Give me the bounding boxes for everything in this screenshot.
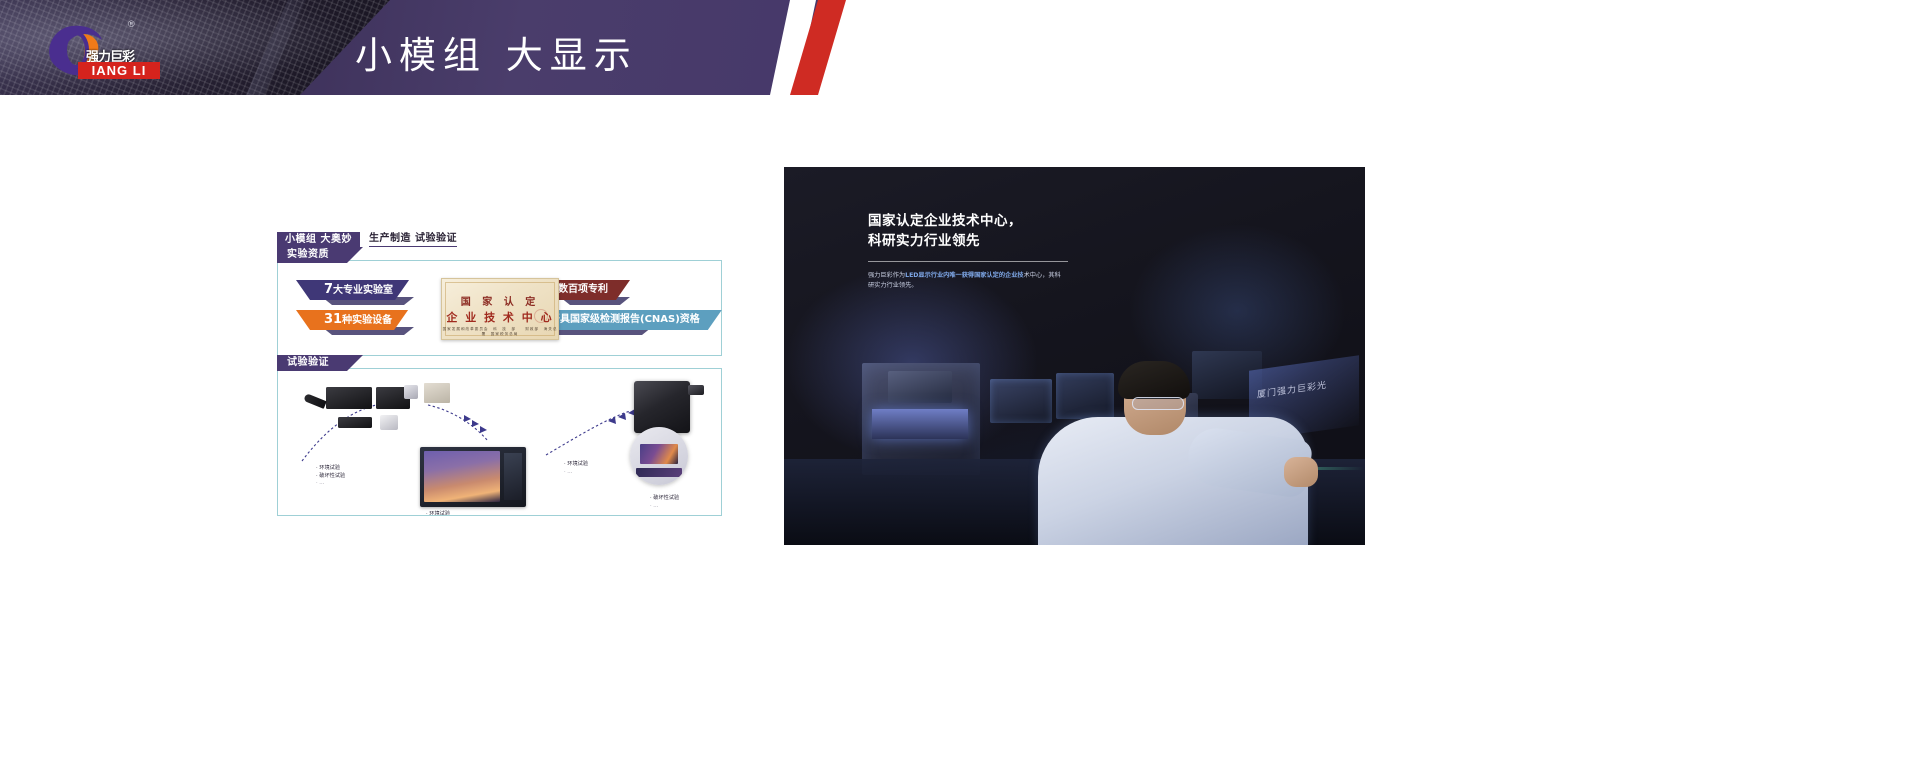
chip-equipment-text: 种实验设备 bbox=[342, 315, 392, 326]
display-module-side bbox=[504, 453, 522, 500]
flow-label-cabinet-line1: · 环境试验 bbox=[564, 461, 588, 469]
machine-head bbox=[888, 371, 952, 403]
flow-label-module-line1: · 环境试验 bbox=[426, 511, 455, 515]
chip-labs: 7大专业实验室 bbox=[296, 280, 409, 300]
flow-label-system-line2: · ... bbox=[650, 503, 679, 511]
photo-title-divider bbox=[868, 261, 1068, 262]
panel-validation: 试验验证 bbox=[277, 368, 722, 516]
technician-hair bbox=[1118, 361, 1190, 399]
resistor-part bbox=[404, 385, 418, 399]
photo-title-line2: 科研实力行业领先 bbox=[868, 231, 1168, 251]
photo-text-overlay: 国家认定企业技术中心， 科研实力行业领先 强力巨彩作为LED显示行业内唯一获得国… bbox=[868, 211, 1168, 291]
led-lamp-part bbox=[380, 415, 398, 430]
page-title: 小模组 大显示 bbox=[355, 25, 638, 79]
flow-label-components: · 环境试验 · 破坏性试验 · ... bbox=[316, 465, 345, 488]
registered-mark: ® bbox=[128, 20, 135, 29]
photo-title-line1: 国家认定企业技术中心， bbox=[868, 211, 1168, 231]
flow-label-components-line1: · 环境试验 bbox=[316, 465, 345, 473]
chip-patents-text: 数百项专利 bbox=[558, 284, 608, 295]
flow-label-module: · 环境试验 · 破坏性试验 · ... bbox=[426, 511, 455, 515]
panel-qualification-label: 实验资质 bbox=[277, 247, 363, 263]
flow-label-components-line3: · ... bbox=[316, 480, 345, 488]
flow-label-cabinet: · 环境试验 · ... bbox=[564, 461, 588, 476]
company-logo: ® 强力巨彩 IANG LI bbox=[42, 18, 160, 80]
display-module-image bbox=[424, 451, 500, 502]
terminal-block-part bbox=[424, 383, 450, 403]
photo-body-post: 术中心 bbox=[1024, 272, 1043, 279]
chip-equipment-number: 31 bbox=[324, 312, 342, 327]
certificate-line-1: 国 家 认 定 bbox=[442, 293, 558, 308]
technician-glasses-icon bbox=[1132, 397, 1184, 410]
showcase-bar bbox=[636, 468, 682, 477]
chip-equipment: 31种实验设备 bbox=[296, 310, 408, 330]
photo-body-pre: 强力巨彩作为 bbox=[868, 272, 905, 279]
chip-labs-number: 7 bbox=[324, 282, 333, 297]
flow-label-system: · 破坏性试验 · ... bbox=[650, 495, 679, 510]
header-banner: ® 强力巨彩 IANG LI 小模组 大显示 bbox=[0, 0, 880, 95]
photo-body-highlight: LED显示行业内唯一获得国家认定的企业技 bbox=[905, 272, 1024, 279]
led-cabinet bbox=[634, 381, 690, 433]
flow-label-cabinet-line2: · ... bbox=[564, 469, 588, 477]
system-showcase-photo bbox=[630, 427, 688, 485]
infographic-tag: 小模组 大奥妙 bbox=[277, 232, 360, 248]
technician-hand bbox=[1284, 457, 1318, 487]
cabinet-connector bbox=[688, 385, 704, 395]
certificate-seal-icon bbox=[534, 309, 548, 323]
connector-part-large bbox=[326, 387, 372, 409]
infographic-header: 小模组 大奥妙 生产制造 试验验证 bbox=[277, 232, 722, 248]
flow-label-components-line2: · 破坏性试验 bbox=[316, 473, 345, 481]
certificate-line-3: 国家发展和改革委员会 科 技 部 财政部 海关总署 国家税务总局 bbox=[442, 327, 558, 337]
certificate-image: 国 家 认 定 企 业 技 术 中 心 国家发展和改革委员会 科 技 部 财政部… bbox=[441, 278, 559, 340]
display-module-shell bbox=[420, 447, 526, 507]
lab-photo-card: 厦门强力巨彩光 国家认定企业技术中心， 科研实力行业领先 强力巨彩作为LED显示… bbox=[784, 167, 1365, 545]
chip-labs-text: 大专业实验室 bbox=[333, 285, 393, 296]
machine-light-slot bbox=[872, 409, 968, 439]
panel-qualification: 实验资质 7大专业实验室 31种实验设备 数百项专利 具备开具国家级检测报告(C… bbox=[277, 260, 722, 356]
flow-label-system-line1: · 破坏性试验 bbox=[650, 495, 679, 503]
lab-technician bbox=[1012, 325, 1342, 545]
validation-flow-diagram: · 环境试验 · 破坏性试验 · ... · 环境试验 · 破坏性试验 · ..… bbox=[278, 369, 721, 515]
photo-body-text: 强力巨彩作为LED显示行业内唯一获得国家认定的企业技术中心，其科研实力行业领先。 bbox=[868, 271, 1066, 291]
infographic-subtitle: 生产制造 试验验证 bbox=[369, 233, 457, 247]
infographic-slide: 小模组 大奥妙 生产制造 试验验证 实验资质 7大专业实验室 31种实验设备 数… bbox=[277, 232, 722, 514]
showcase-screen bbox=[640, 444, 677, 464]
logo-english-name: IANG LI bbox=[78, 62, 160, 79]
ic-chip-part bbox=[338, 417, 372, 428]
